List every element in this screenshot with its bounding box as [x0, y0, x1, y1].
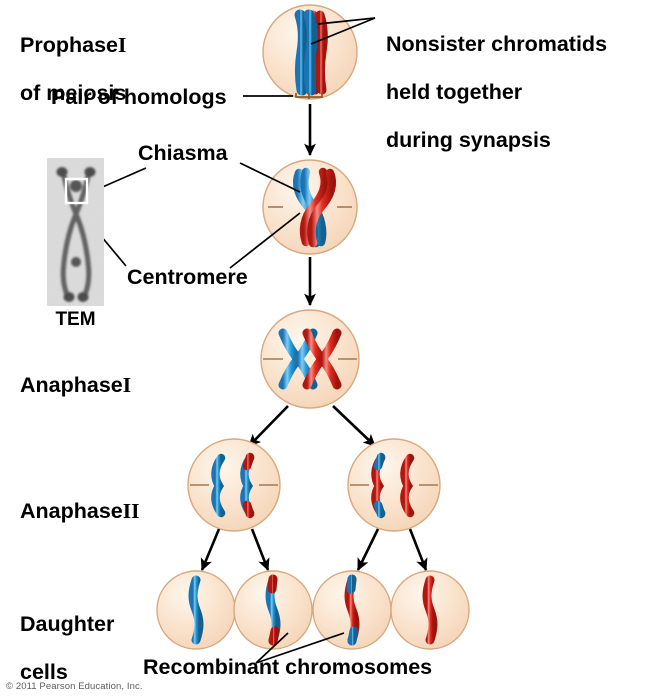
cell-chiasma [263, 160, 357, 254]
daughter-line1: Daughter [20, 612, 114, 636]
arrow-anaphase1-to-ana2-left [249, 406, 288, 446]
chromosome-red-recombinant [244, 457, 250, 514]
chromosome-blue-recombinant [375, 457, 381, 514]
red-tip-bottom [273, 631, 275, 641]
blue-chromatid-b [309, 15, 312, 90]
callout-recombinant-chromosomes: Recombinant chromosomes [143, 655, 432, 679]
arrow-ana2l-to-daughter2 [252, 529, 268, 570]
prophase-line1: Prophase [20, 33, 118, 57]
blue-tip-bottom [378, 505, 381, 514]
chromosome-blue-homolog [300, 15, 312, 90]
blue-tip-bottom [352, 631, 354, 641]
red-chromatid-b [320, 15, 323, 90]
arrow-ana2l-to-daughter1 [202, 529, 219, 570]
chromosome-blue-parental [215, 458, 221, 513]
arrow-anaphase1-to-ana2-right [333, 406, 375, 446]
daughter-cell-2 [234, 571, 312, 649]
prophase-numeral: I [118, 33, 126, 57]
callout-nonsister-chromatids: Nonsister chromatids held together durin… [386, 8, 607, 152]
anaphase-ii-numeral: II [123, 499, 140, 523]
blue-chromatid-a [300, 15, 303, 90]
nonsister-line1: Nonsister chromatids [386, 32, 607, 56]
figure-canvas: ProphaseI of meiosis Nonsister chromatid… [0, 0, 646, 700]
callout-chiasma: Chiasma [138, 141, 228, 165]
chromosome-red-parental [427, 580, 433, 640]
arrow-ana2r-to-daughter4 [410, 529, 426, 570]
blue-tip-top [378, 457, 381, 466]
nonsister-line3: during synapsis [386, 128, 551, 152]
red-tip-top [247, 457, 250, 466]
nonsister-line2: held together [386, 80, 522, 104]
chromosome-red-parental [404, 458, 410, 513]
tem-caption: TEM [47, 309, 104, 331]
anaphase-i-numeral: I [123, 373, 131, 397]
callout-centromere: Centromere [127, 265, 248, 289]
anaphase-i-text: Anaphase [20, 373, 123, 397]
callout-pair-of-homologs: Pair of homologs [51, 85, 227, 109]
cell-prophase-i [263, 5, 357, 99]
red-tip-bottom [247, 505, 250, 514]
tem-inset [47, 158, 104, 306]
daughter-cell-4 [391, 571, 469, 649]
stage-label-anaphase-i: AnaphaseI [20, 349, 131, 397]
copyright-notice: © 2011 Pearson Education, Inc. [6, 681, 143, 692]
stage-label-daughter-cells: Daughter cells [20, 588, 114, 684]
cell-anaphase-ii-left [188, 439, 280, 531]
daughter-cell-1 [157, 571, 235, 649]
cell-anaphase-i [261, 310, 359, 408]
arrow-ana2r-to-daughter3 [358, 529, 378, 570]
daughter-cell-3 [313, 571, 391, 649]
cell-anaphase-ii-right [348, 439, 440, 531]
stage-label-anaphase-ii: AnaphaseII [20, 475, 140, 523]
anaphase-ii-text: Anaphase [20, 499, 123, 523]
blue-tip-top [351, 579, 352, 589]
chromosome-blue-parental [193, 580, 199, 640]
red-tip-top [272, 579, 273, 589]
